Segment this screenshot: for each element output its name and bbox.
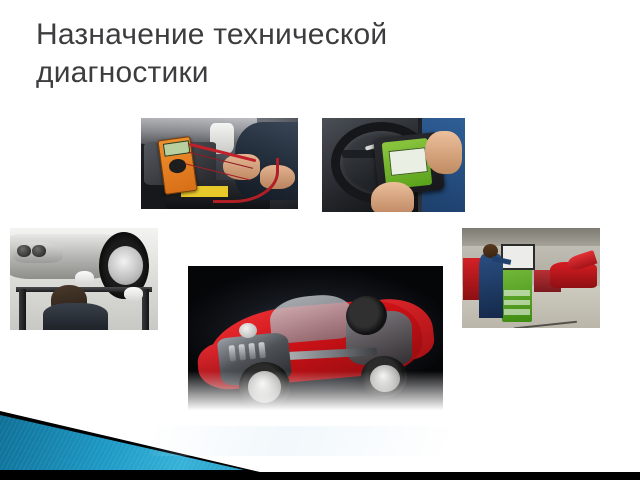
page-title: Назначение технической диагностики xyxy=(36,16,576,92)
technician-body-shape xyxy=(479,254,504,318)
lift-post-left xyxy=(19,289,26,330)
workshop-scene xyxy=(462,228,600,328)
engine-cylinder-1 xyxy=(228,345,235,362)
lift-scene xyxy=(10,228,158,330)
cart-drawer-1 xyxy=(504,290,530,296)
engine-cylinder-2 xyxy=(238,344,245,361)
presentation-slide: Назначение технической диагностики xyxy=(0,0,640,480)
bottom-white-fade xyxy=(188,371,443,416)
diagnostic-scanner-photo xyxy=(322,118,465,212)
fluid-cap-shape xyxy=(239,323,257,338)
wheel-rim-shape xyxy=(108,246,144,285)
multimeter-dial xyxy=(169,158,188,174)
cart-drawer-3 xyxy=(504,309,530,315)
bottom-black-bar xyxy=(0,472,640,480)
battery-multimeter-photo xyxy=(141,118,298,209)
exhaust-pipe-right xyxy=(32,245,45,256)
battery-scene xyxy=(141,118,298,209)
red-sports-car-cutaway-photo xyxy=(188,266,443,416)
engine-cylinder-4 xyxy=(258,342,265,359)
cart-drawer-2 xyxy=(504,300,530,306)
mechanic-torso-shape xyxy=(43,303,108,330)
cutaway-scene xyxy=(188,266,443,416)
scanner-display xyxy=(389,147,428,176)
engine-cylinder-3 xyxy=(248,343,255,360)
car-on-lift-photo xyxy=(10,228,158,330)
left-hand-shape xyxy=(371,182,414,212)
scanner-scene xyxy=(322,118,465,212)
glove-left-shape xyxy=(75,271,94,285)
wedge-sheen-highlight xyxy=(150,426,450,456)
diagnostic-monitor-screen xyxy=(501,244,535,270)
multimeter-display xyxy=(163,140,190,156)
exhaust-pipe-left xyxy=(17,245,30,256)
workshop-diagnostic-station-photo xyxy=(462,228,600,328)
right-hand-shape xyxy=(425,131,462,174)
